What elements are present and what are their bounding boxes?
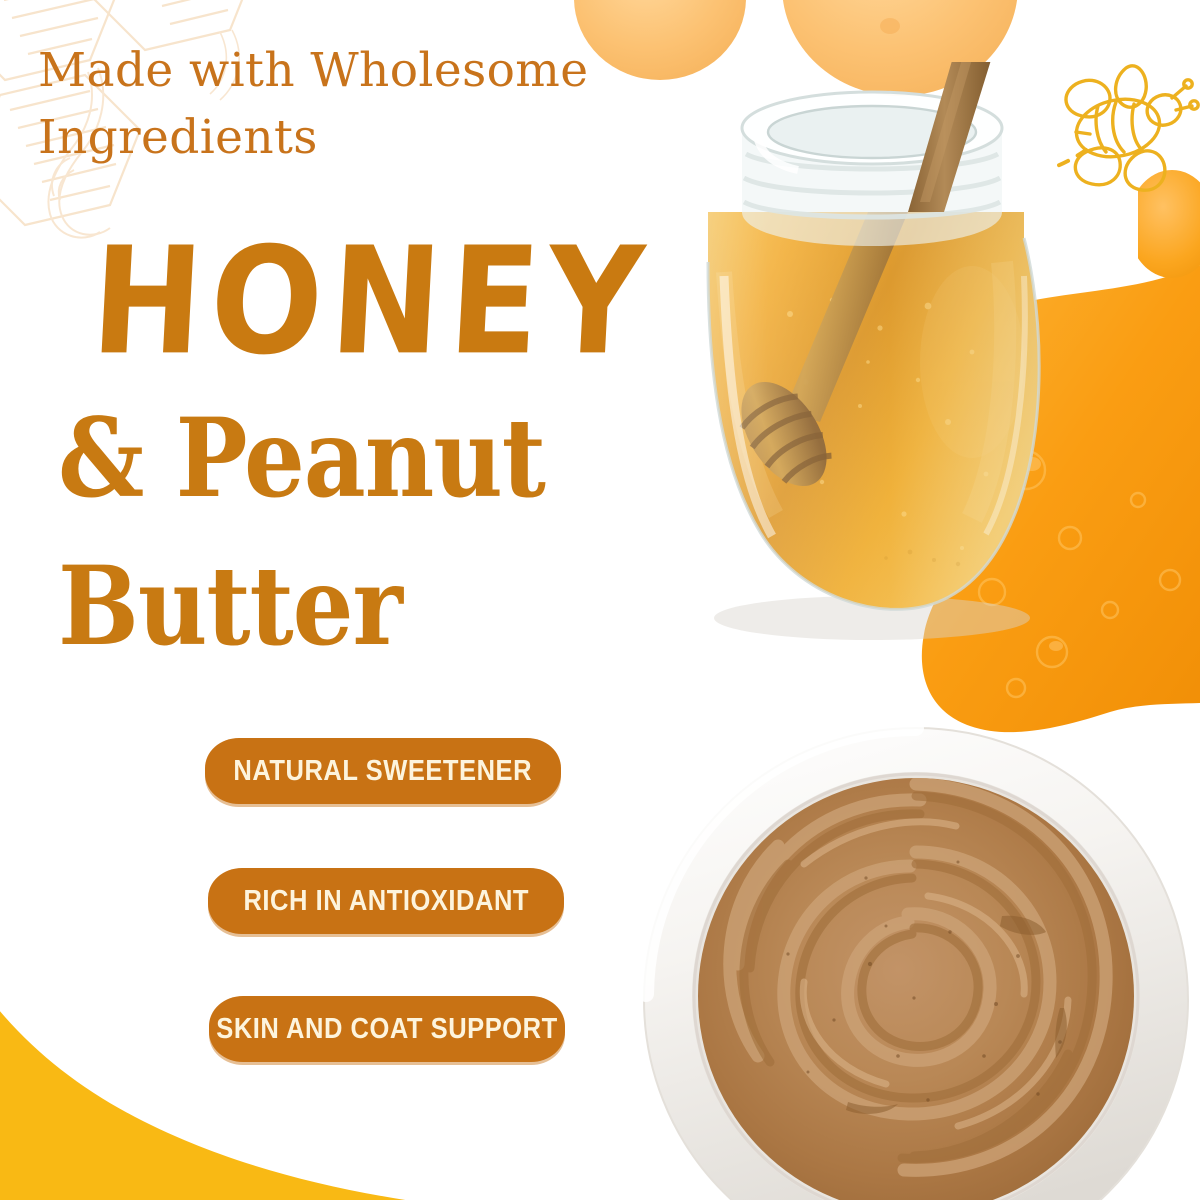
- feature-pill-list: NATURAL SWEETENER RICH IN ANTIOXIDANT SK…: [0, 0, 1200, 1200]
- feature-pill-skin-and-coat-support[interactable]: SKIN AND COAT SUPPORT: [209, 996, 565, 1062]
- feature-pill-label: SKIN AND COAT SUPPORT: [216, 1013, 557, 1046]
- feature-pill-natural-sweetener[interactable]: NATURAL SWEETENER: [205, 738, 561, 804]
- feature-pill-rich-in-antioxidant[interactable]: RICH IN ANTIOXIDANT: [208, 868, 564, 934]
- feature-pill-label: NATURAL SWEETENER: [234, 755, 533, 788]
- poster-canvas: Made with Wholesome Ingredients HONEY & …: [0, 0, 1200, 1200]
- feature-pill-label: RICH IN ANTIOXIDANT: [243, 885, 529, 918]
